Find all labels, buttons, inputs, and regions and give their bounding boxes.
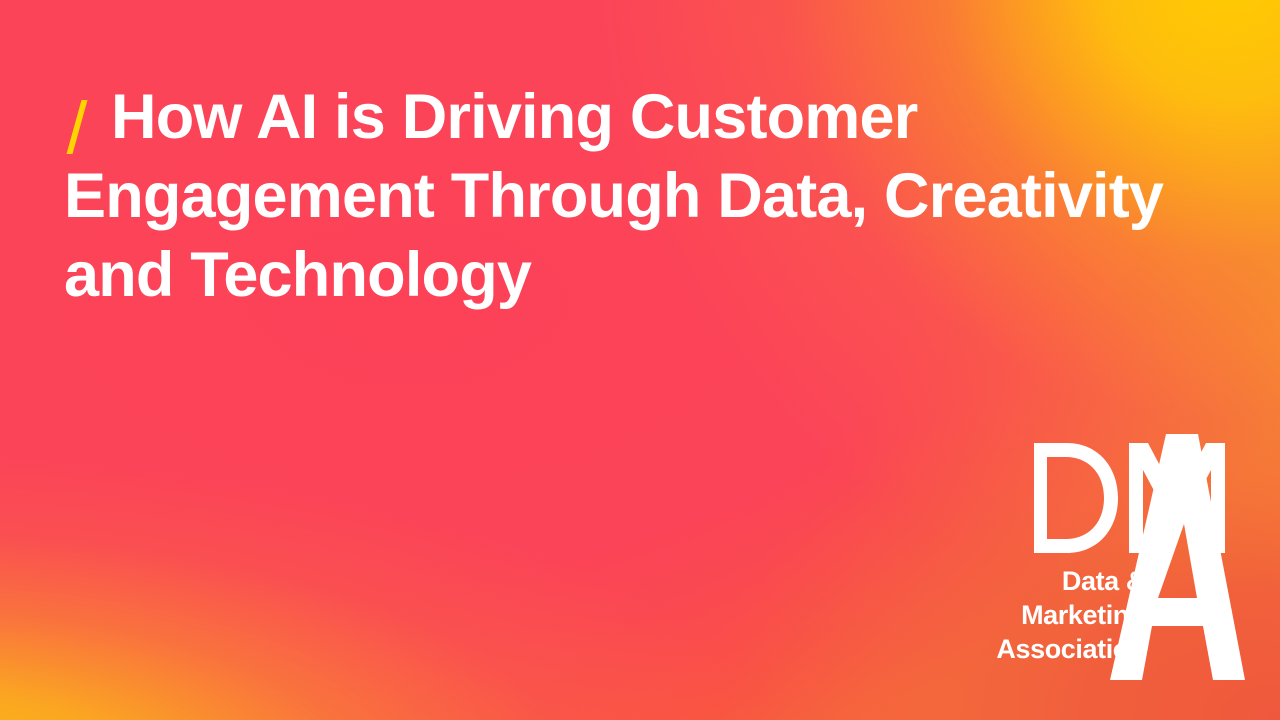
page-title: How AI is Driving Customer Engagement Th… (64, 78, 1244, 315)
headline-line-1: How AI is Driving Customer (111, 82, 917, 152)
logo-mark-text: DMA (930, 680, 931, 681)
dma-logo: Data & Marketing Association DMA Data & … (930, 432, 1245, 680)
headline-line-3: and Technology (64, 240, 531, 310)
headline-line-2: Engagement Through Data, Creativity (64, 161, 1163, 231)
logo-letter-d-shape (1034, 443, 1118, 553)
logo-wordmark-text: Data & Marketing Association (930, 680, 931, 681)
headline-block: / How AI is Driving Customer Engagement … (64, 78, 1244, 315)
title-slide: / How AI is Driving Customer Engagement … (0, 0, 1280, 720)
